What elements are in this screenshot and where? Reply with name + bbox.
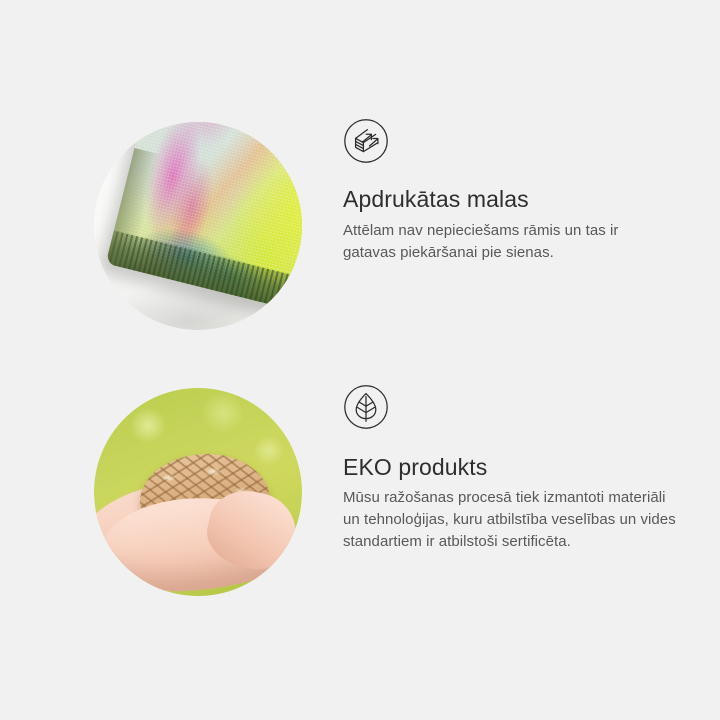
canvas-print-corner-photo [90,118,306,334]
product-features-panel: Apdrukātas malas Attēlam nav nepieciešam… [0,0,720,720]
hands-holding-wood-chips-photo [90,384,306,600]
feature-text-printed-edges: Apdrukātas malas Attēlam nav nepieciešam… [343,118,695,264]
circular-image-mask [94,122,302,330]
feature-text-eco-product: EKO produkts Mūsu ražošanas procesā tiek… [343,384,695,553]
leaf-icon [343,384,389,430]
circular-image-mask [94,388,302,596]
feature-description: Attēlam nav nepieciešams rāmis un tas ir… [343,220,673,264]
feature-title: EKO produkts [343,454,695,481]
feature-title: Apdrukātas malas [343,186,695,213]
canvas-print-object [106,122,302,314]
feature-description: Mūsu ražošanas procesā tiek izmantoti ma… [343,487,683,553]
white-backdrop [94,122,302,330]
feature-block-printed-edges: Apdrukātas malas Attēlam nav nepieciešam… [0,118,695,334]
feature-block-eco-product: EKO produkts Mūsu ražošanas procesā tiek… [0,384,695,600]
green-bokeh-backdrop [94,388,302,596]
wrapped-canvas-edge-icon [343,118,389,164]
